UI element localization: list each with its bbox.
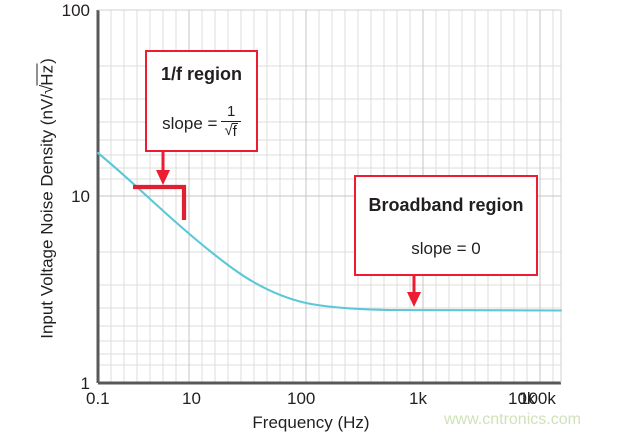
sqrt-radicand: f	[232, 123, 238, 140]
broadband-region-callout: Broadband region slope = 0	[354, 175, 538, 276]
noise-density-chart: 1/f region slope = 1 √f Broadband region…	[0, 0, 622, 438]
x-tick-label-100: 100	[287, 390, 315, 407]
broadband-callout-title: Broadband region	[368, 196, 523, 214]
one-over-f-region-callout: 1/f region slope = 1 √f	[145, 50, 258, 152]
x-tick-label-0point1: 0.1	[86, 390, 110, 407]
one-over-f-callout-title: 1/f region	[161, 65, 242, 83]
y-axis-title-suffix: )	[38, 58, 57, 64]
watermark-text: www.cntronics.com	[444, 412, 581, 428]
fraction-numerator: 1	[224, 104, 238, 121]
broadband-callout-equation: slope = 0	[411, 240, 480, 257]
x-tick-label-1k: 1k	[409, 390, 427, 407]
broadband-arrow	[407, 276, 421, 307]
one-over-f-slope-label: slope =	[162, 115, 217, 132]
fraction-denominator: √f	[221, 121, 240, 140]
y-axis-title: Input Voltage Noise Density (nV/√Hz)	[39, 4, 56, 394]
sqrt-icon: √	[39, 85, 56, 94]
one-over-f-callout-equation: slope = 1 √f	[162, 105, 241, 141]
y-axis-title-prefix: Input Voltage Noise Density (nV/	[38, 94, 57, 339]
y-axis-title-radicand: Hz	[37, 64, 57, 86]
one-over-sqrt-f-fraction: 1 √f	[221, 104, 240, 140]
x-tick-label-100k: 100k	[519, 390, 556, 407]
x-tick-label-10: 10	[182, 390, 201, 407]
